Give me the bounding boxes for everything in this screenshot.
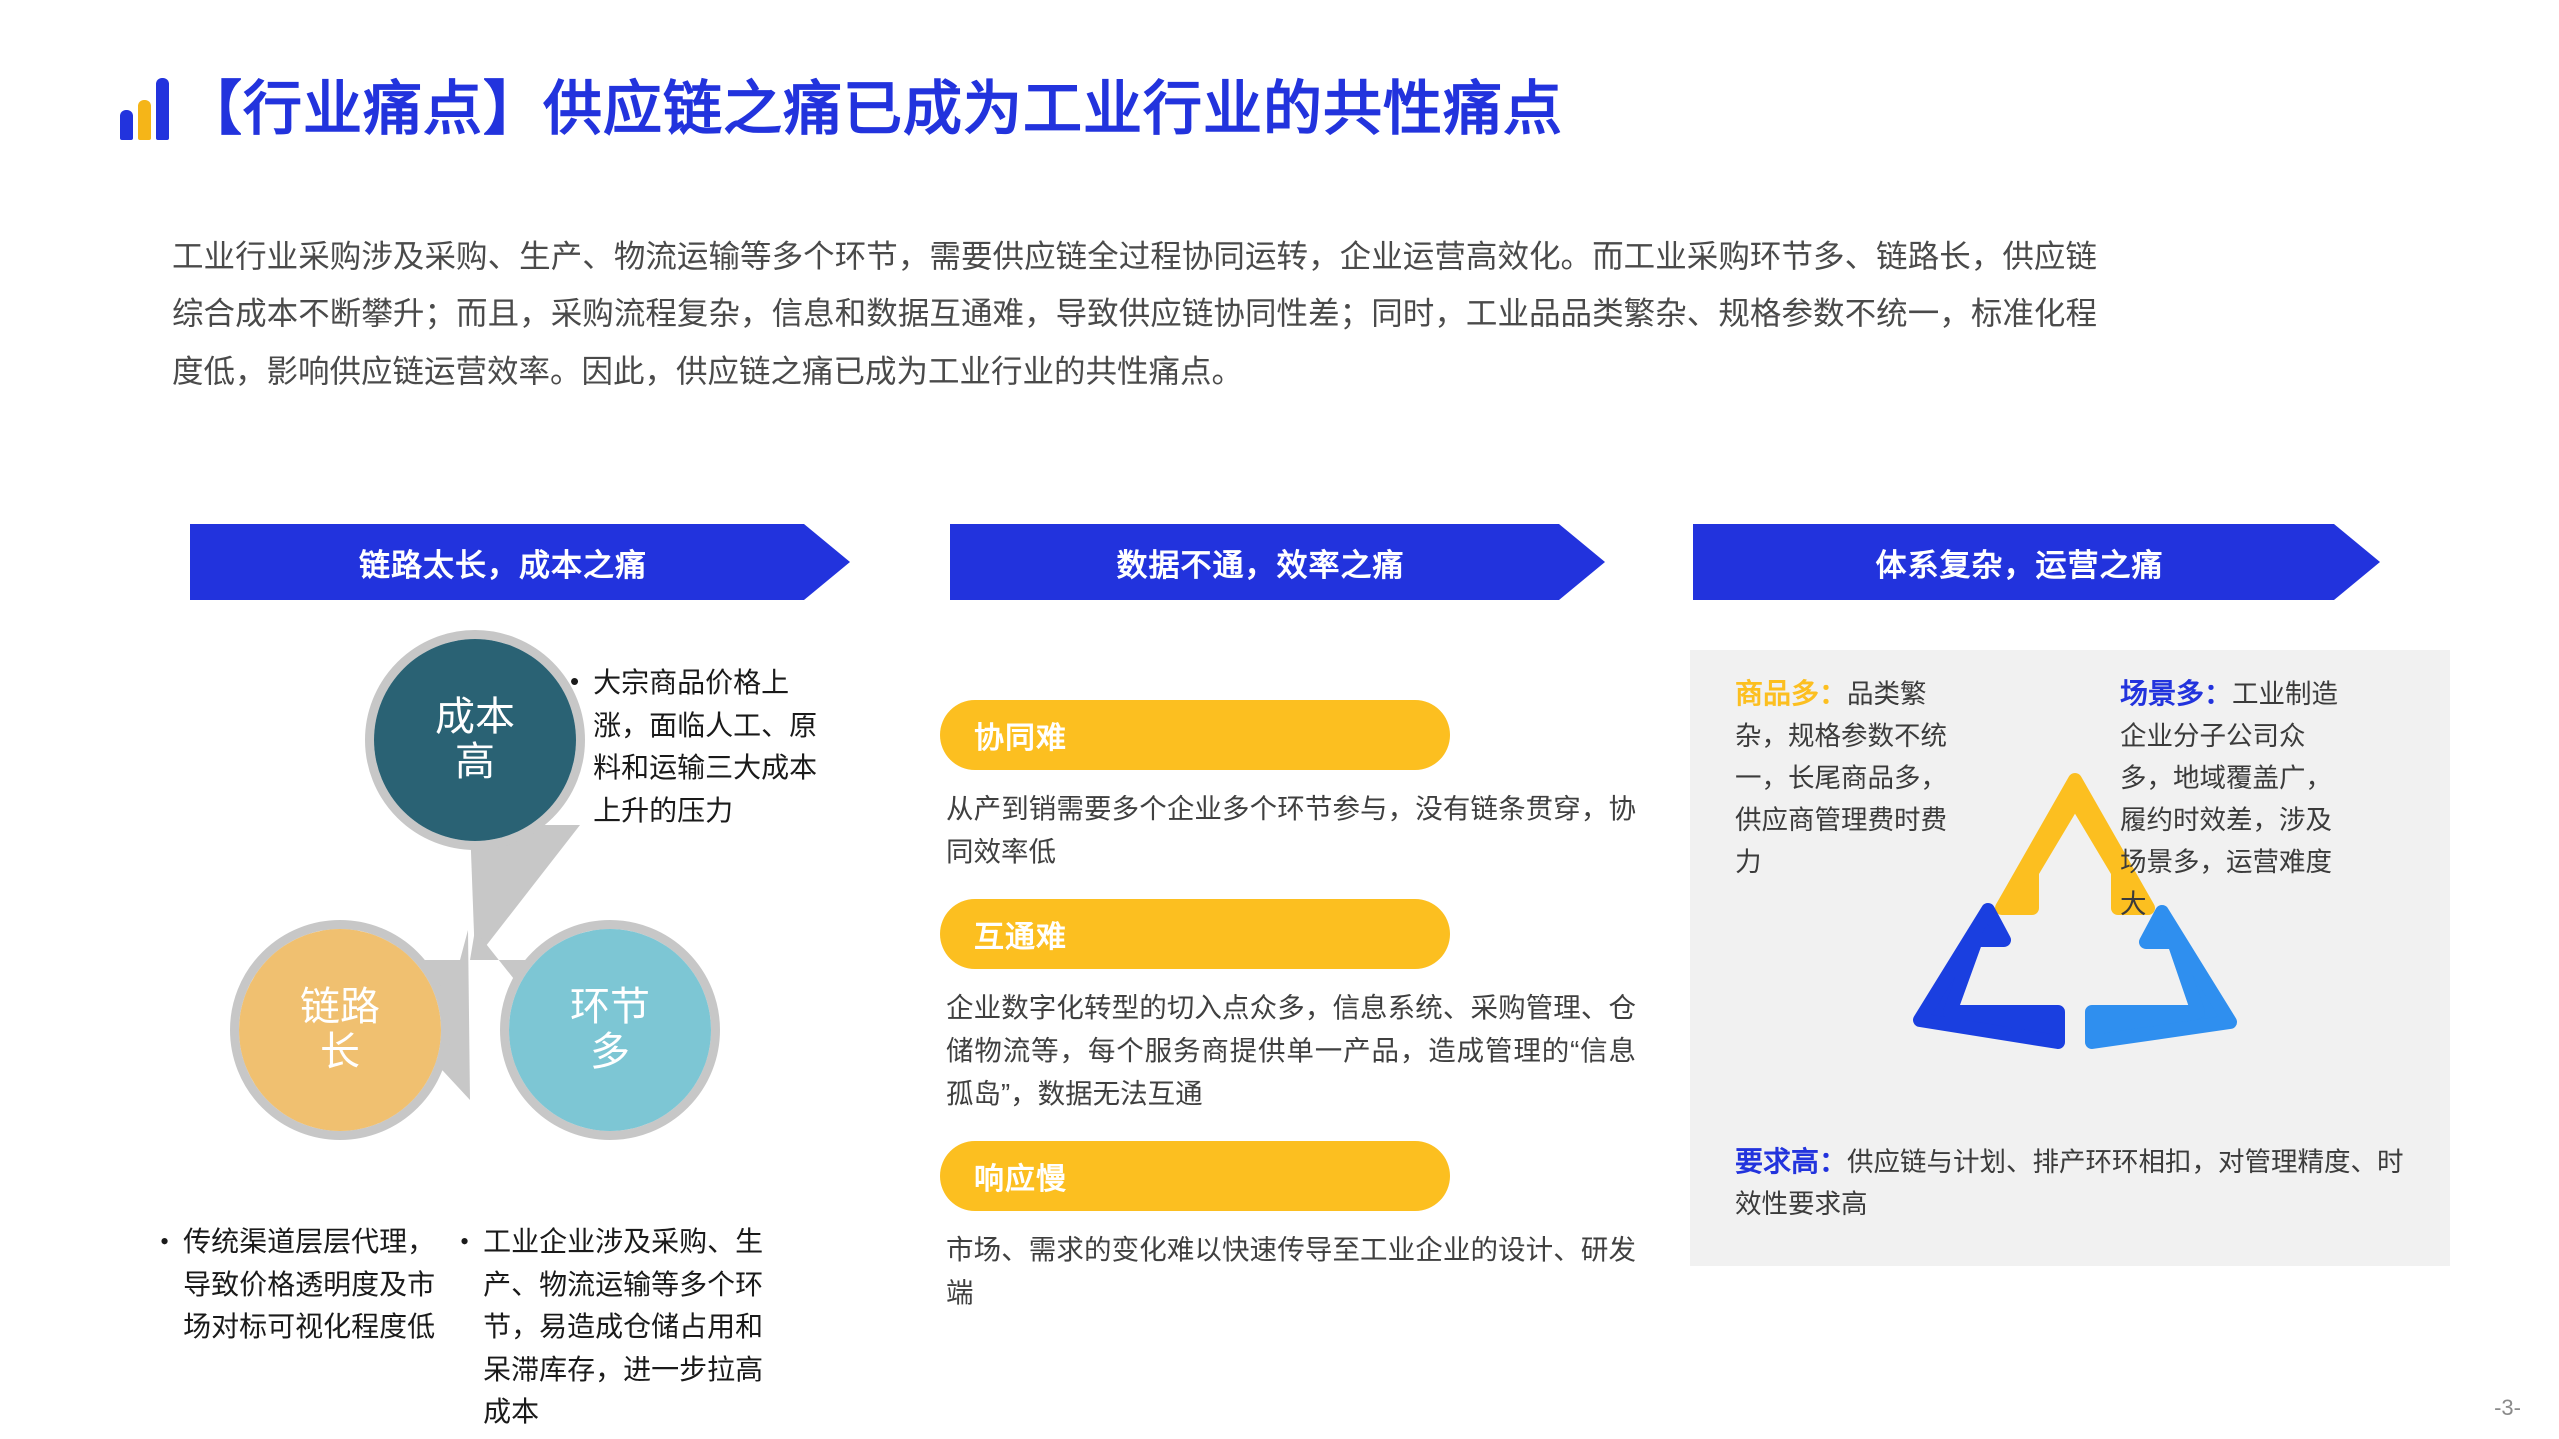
pill-collab-hard-body: 从产到销需要多个企业多个环节参与，没有链条贯穿，协同效率低 [946, 788, 1636, 873]
bullet-links-text: 工业企业涉及采购、生产、物流运输等多个环节，易造成仓储占用和呆滞库存，进一步拉高… [483, 1222, 790, 1435]
right-block-requirement-lead: 要求高： [1735, 1146, 1847, 1177]
circle-chain-long-inner: 链路 长 [239, 929, 441, 1131]
logo-bar-2 [138, 100, 151, 140]
page-title-row: 【行业痛点】供应链之痛已成为工业行业的共性痛点 [120, 78, 1563, 140]
bullet-chain-text: 传统渠道层层代理，导致价格透明度及市场对标可视化程度低 [183, 1222, 445, 1350]
page-number: -3- [2494, 1395, 2521, 1421]
circle-chain-long-label-top: 链路 [300, 985, 380, 1030]
pill-interop-hard: 互通难 [940, 899, 1450, 969]
right-block-requirement: 要求高：供应链与计划、排产环环相扣，对管理精度、时效性要求高 [1735, 1140, 2425, 1226]
pill-interop-hard-body: 企业数字化转型的切入点众多，信息系统、采购管理、仓储物流等，每个服务商提供单一产… [946, 987, 1636, 1115]
bullet-links: • 工业企业涉及采购、生产、物流运输等多个环节，易造成仓储占用和呆滞库存，进一步… [460, 1222, 790, 1435]
circle-links-many-label-bottom: 多 [590, 1030, 630, 1075]
page-title: 【行业痛点】供应链之痛已成为工业行业的共性痛点 [183, 80, 1563, 139]
logo-bar-1 [120, 110, 133, 140]
circle-cost-high-label-top: 成本 [435, 695, 515, 740]
pill-response-slow: 响应慢 [940, 1141, 1450, 1211]
pill-collab-hard: 协同难 [940, 700, 1450, 770]
bullet-marker-icon: • [460, 1222, 469, 1435]
circle-links-many-inner: 环节 多 [509, 929, 711, 1131]
right-block-goods-lead: 商品多： [1735, 678, 1847, 709]
banner-right: 体系复杂，运营之痛 [1693, 524, 2380, 600]
circle-cost-high-inner: 成本 高 [374, 639, 576, 841]
banner-middle: 数据不通，效率之痛 [950, 524, 1605, 600]
slide-root: 【行业痛点】供应链之痛已成为工业行业的共性痛点 工业行业采购涉及采购、生产、物流… [0, 0, 2559, 1439]
right-block-scene-lead: 场景多： [2120, 678, 2232, 709]
banner-left: 链路太长，成本之痛 [190, 524, 850, 600]
bullet-chain: • 传统渠道层层代理，导致价格透明度及市场对标可视化程度低 [160, 1222, 445, 1350]
logo-bar-3 [156, 78, 169, 140]
bullet-cost-text: 大宗商品价格上涨，面临人工、原料和运输三大成本上升的压力 [593, 662, 832, 832]
bullet-cost: • 大宗商品价格上涨，面临人工、原料和运输三大成本上升的压力 [570, 662, 832, 832]
circle-chain-long-label-bottom: 长 [320, 1030, 360, 1075]
intro-paragraph: 工业行业采购涉及采购、生产、物流运输等多个环节，需要供应链全过程协同运转，企业运… [172, 228, 2097, 400]
bar-chart-logo [120, 78, 169, 140]
right-block-scene: 场景多：工业制造企业分子公司众多，地域覆盖广，履约时效差，涉及场景多，运营难度大 [2120, 672, 2345, 926]
circle-links-many-label-top: 环节 [570, 985, 650, 1030]
circle-chain-long: 链路 长 [230, 920, 450, 1140]
middle-pill-list: 协同难 从产到销需要多个企业多个环节参与，没有链条贯穿，协同效率低 互通难 企业… [940, 700, 1640, 1340]
circle-links-many: 环节 多 [500, 920, 720, 1140]
bullet-marker-icon: • [160, 1222, 169, 1350]
right-block-scene-body: 工业制造企业分子公司众多，地域覆盖广，履约时效差，涉及场景多，运营难度大 [2120, 679, 2338, 919]
pill-response-slow-body: 市场、需求的变化难以快速传导至工业企业的设计、研发端 [946, 1229, 1636, 1314]
right-block-goods: 商品多：品类繁杂，规格参数不统一，长尾商品多，供应商管理费时费力 [1735, 672, 1950, 884]
circle-cost-high-label-bottom: 高 [455, 740, 495, 785]
bullet-marker-icon: • [570, 662, 579, 832]
circle-cost-high: 成本 高 [365, 630, 585, 850]
